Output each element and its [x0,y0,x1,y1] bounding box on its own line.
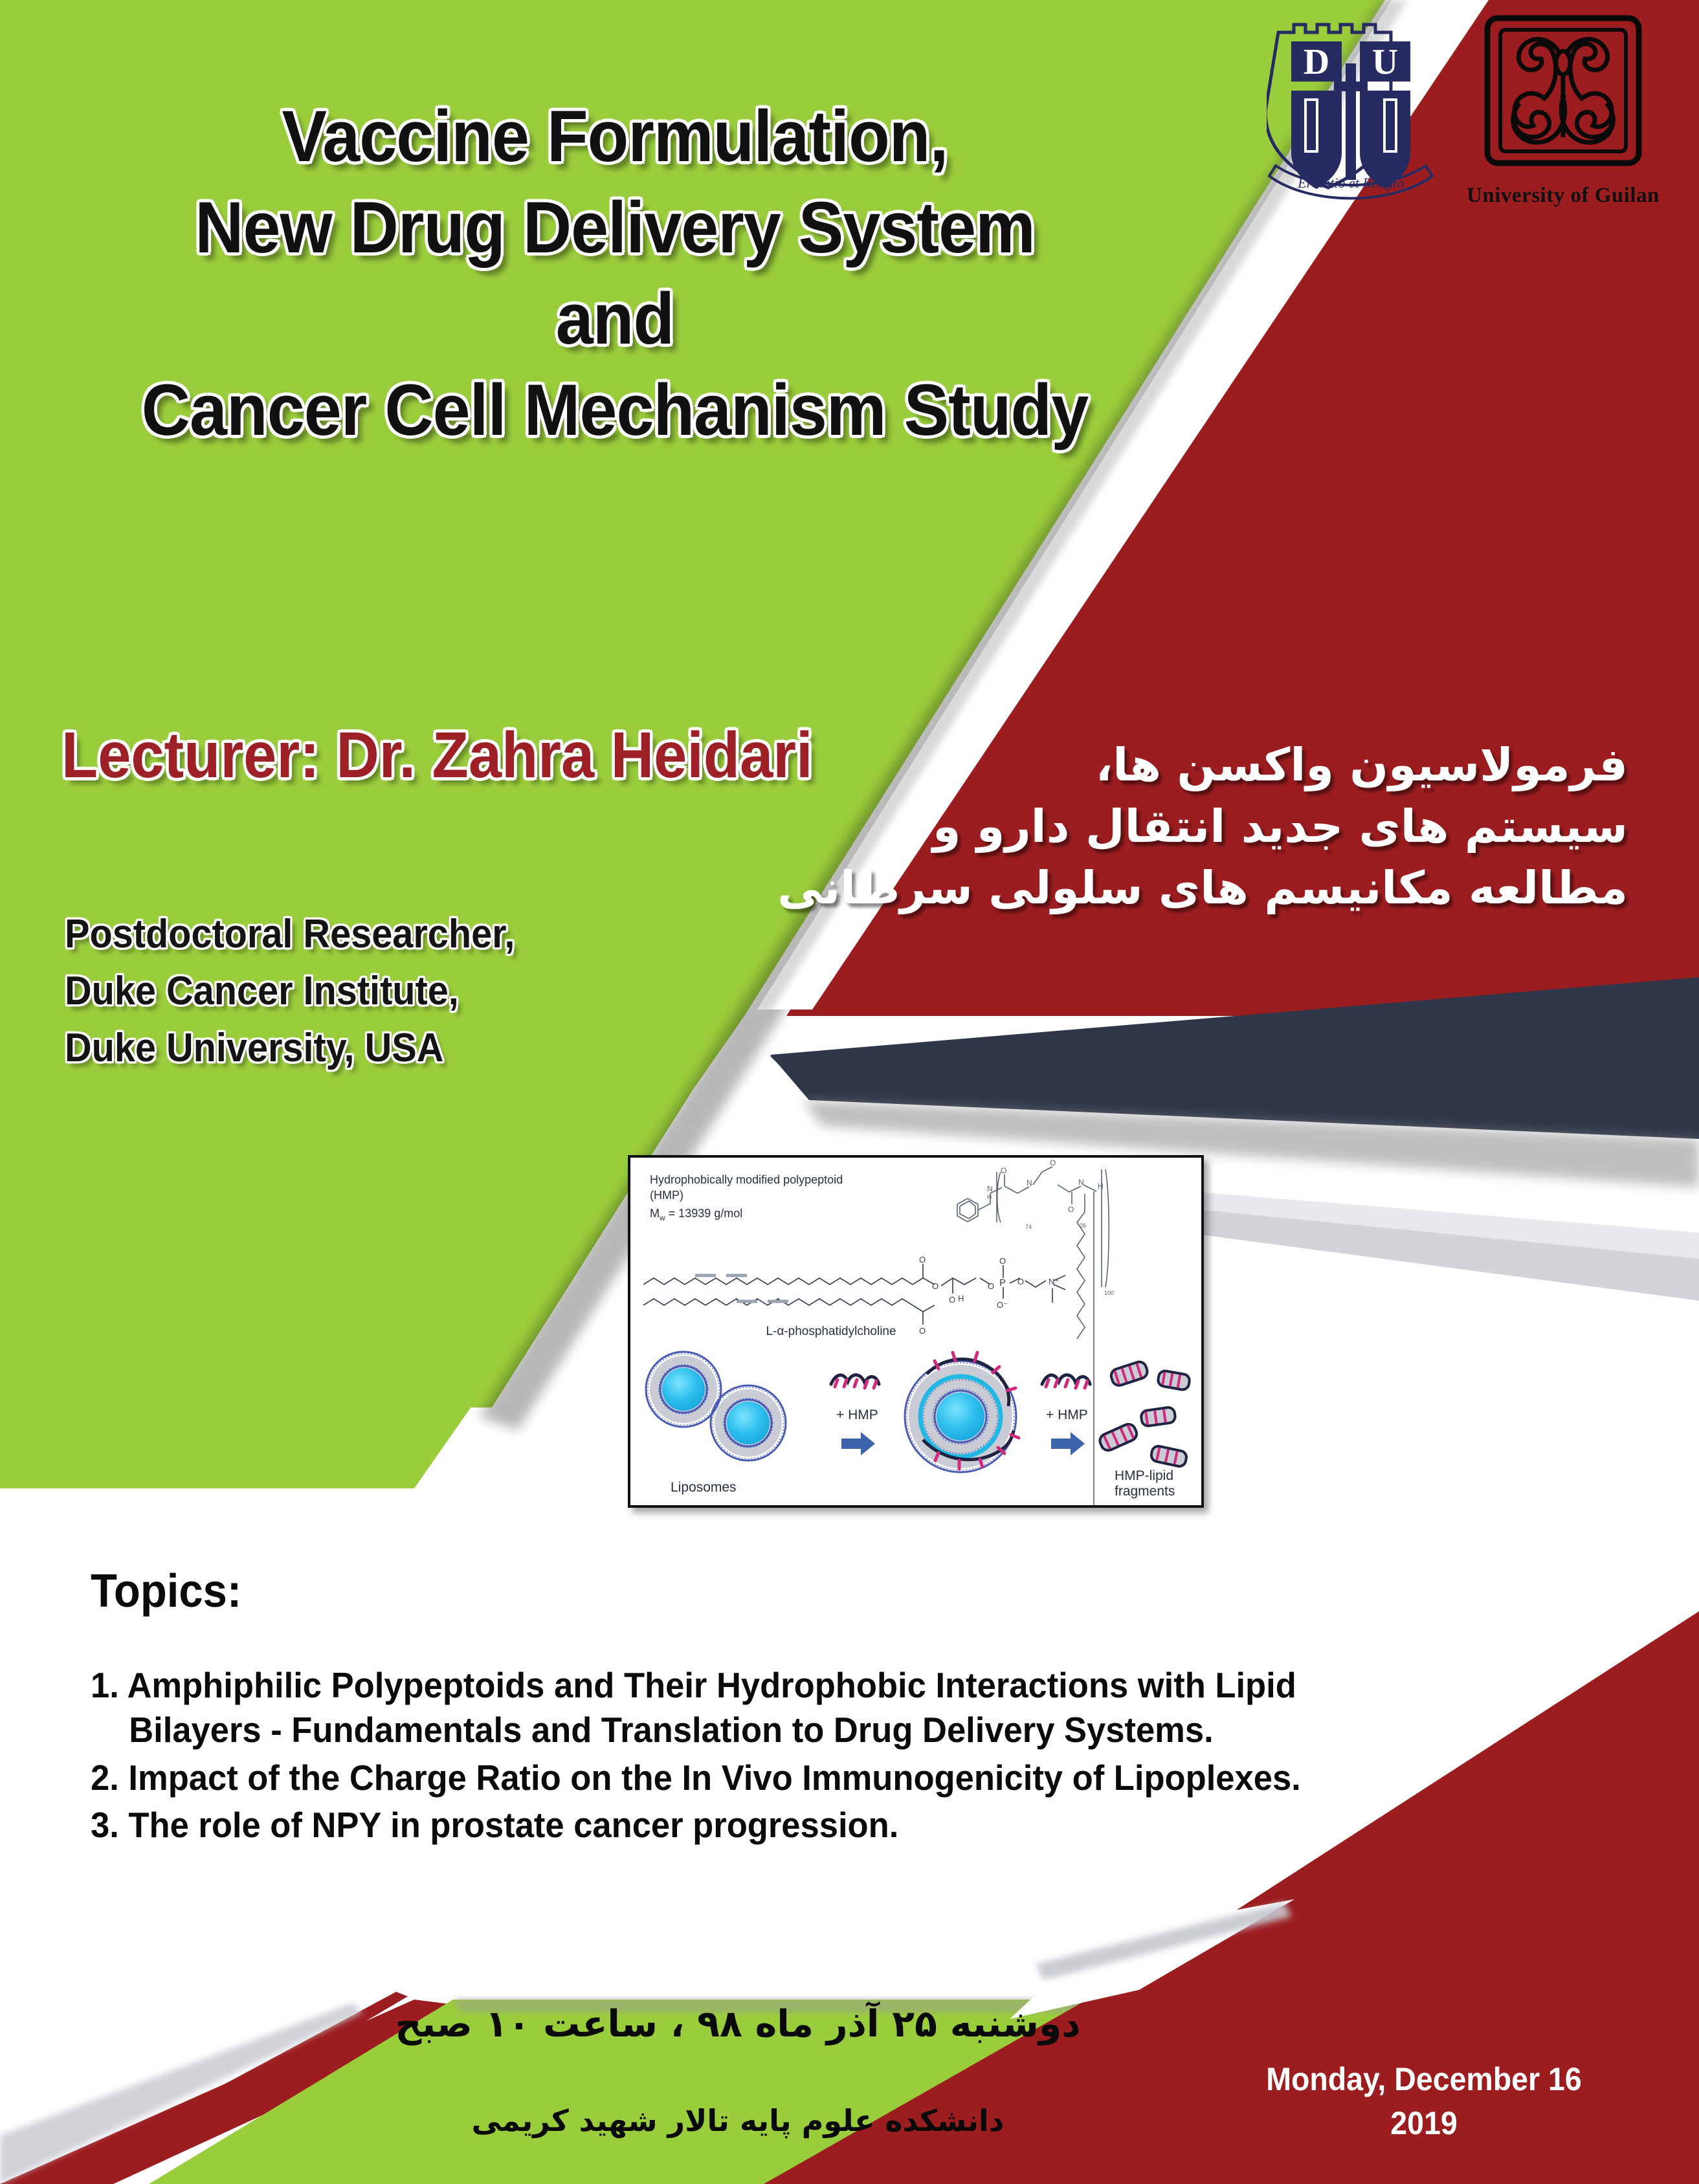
figure-caption-line1: Hydrophobically modified polypeptoid [650,1173,843,1186]
svg-text:O: O [988,1281,994,1291]
topics-list: 1. Amphiphilic Polypeptoids and Their Hy… [91,1663,1407,1850]
svg-text:O: O [932,1281,938,1291]
liposome-diagram: + HMP [646,1352,1190,1499]
svg-text:O: O [919,1255,926,1264]
svg-text:O: O [1068,1205,1074,1214]
logo-group: D U Eruditio et Religio [1267,14,1660,208]
reagent-label-2: + HMP [1046,1407,1088,1422]
liposome-hmp-complex-icon [905,1352,1019,1472]
figure-mw: Mw = 13939 g/mol [650,1207,742,1222]
hmp-polymer-icon-1 [831,1375,879,1388]
svg-text:N: N [987,1184,993,1193]
svg-text:D: D [1304,42,1329,82]
lecturer-affiliation: Postdoctoral Researcher, Duke Cancer Ins… [65,906,515,1077]
guilan-logo-caption: University of Guilan [1467,184,1660,208]
svg-text:26: 26 [1080,1222,1086,1229]
persian-title-line-2: سیستم های جدید انتقال دارو و [777,796,1628,857]
phosphatidylcholine-structure-icon: O O O H O O P O O⁻ O N⁺ [643,1255,1065,1336]
duke-university-shield-icon: D U Eruditio et Religio [1267,14,1435,208]
topics-heading: Topics: [91,1565,241,1618]
svg-text:O: O [1017,1277,1024,1286]
guilan-emblem-icon [1482,14,1644,181]
affiliation-line-3: Duke University, USA [65,1020,515,1077]
affiliation-line-2: Duke Cancer Institute, [65,963,515,1020]
topic-2-number: 2. [91,1758,119,1798]
scientific-figure: Hydrophobically modified polypeptoid (HM… [628,1155,1204,1508]
arrow-1-icon [841,1432,875,1455]
svg-text:O: O [1001,1166,1006,1175]
fragments-label-line1: HMP-lipid [1115,1468,1173,1483]
title-line-4: Cancer Cell Mechanism Study [43,364,1187,456]
svg-text:H: H [958,1294,964,1303]
event-poster: D U Eruditio et Religio [0,0,1699,2184]
topic-3-text: The role of NPY in prostate cancer progr… [128,1805,898,1845]
liposomes-label: Liposomes [671,1480,737,1495]
svg-text:O: O [999,1256,1006,1266]
svg-text:P: P [999,1277,1006,1288]
topic-1-text: Amphiphilic Polypeptoids and Their Hydro… [127,1665,1296,1705]
english-date-line2: 2019 [1243,2102,1605,2146]
title-line-1: Vaccine Formulation, [43,91,1187,182]
university-of-guilan-logo: University of Guilan [1466,14,1660,208]
arrow-2-icon [1051,1432,1085,1455]
persian-date: دوشنبه ۲۵ آذر ماه ۹۸ ، ساعت ۱۰ صبح [311,2003,1165,2046]
title-line-3: and [43,273,1187,364]
persian-title-line-1: فرمولاسیون واکسن ها، [777,734,1628,796]
english-date-line1: Monday, December 16 [1243,2058,1605,2102]
svg-text:U: U [1372,42,1398,82]
liposome-1-icon [646,1352,721,1427]
duke-motto: Eruditio et Religio [1297,175,1404,191]
liposome-2-icon [711,1385,786,1461]
svg-text:74: 74 [1025,1224,1032,1230]
topic-2-text: Impact of the Charge Ratio on the In Viv… [128,1758,1300,1798]
affiliation-line-1: Postdoctoral Researcher, [65,906,515,963]
topic-3-number: 3. [91,1805,119,1845]
topic-1-continuation: Bilayers - Fundamentals and Translation … [91,1708,1407,1752]
lipid-label: L-α-phosphatidylcholine [766,1325,896,1338]
svg-text:O: O [1050,1158,1056,1167]
svg-text:O: O [919,1326,926,1336]
hmp-lipid-fragments-icon [1098,1360,1190,1468]
figure-caption-line2: (HMP) [650,1189,683,1202]
topic-item-1: 1. Amphiphilic Polypeptoids and Their Hy… [91,1663,1407,1753]
english-date: Monday, December 16 2019 [1243,2058,1605,2145]
svg-text:N: N [1078,1178,1084,1187]
hmp-polymer-icon-2 [1042,1375,1090,1388]
svg-text:H: H [1098,1182,1104,1191]
fragments-label-line2: fragments [1115,1484,1175,1499]
svg-text:O: O [949,1295,955,1305]
svg-text:100: 100 [1104,1290,1114,1296]
persian-title-line-3: مطالعه مکانیسم های سلولی سرطانی [777,857,1628,919]
lecturer-name: Lecturer: Dr. Zahra Heidari [61,718,813,793]
topic-item-2: 2. Impact of the Charge Ratio on the In … [91,1756,1407,1800]
topic-item-3: 3. The role of NPY in prostate cancer pr… [91,1803,1407,1848]
svg-text:H: H [987,1194,992,1201]
persian-venue: دانشکده علوم پایه تالار شهید کریمی [311,2103,1165,2138]
poster-title: Vaccine Formulation, New Drug Delivery S… [0,91,1230,456]
figure-graphics: Hydrophobically modified polypeptoid (HM… [630,1158,1201,1505]
persian-title: فرمولاسیون واکسن ها، سیستم های جدید انتق… [777,734,1628,920]
title-line-2: New Drug Delivery System [43,182,1187,273]
topic-1-number: 1. [91,1665,119,1705]
svg-text:O⁻: O⁻ [997,1300,1008,1310]
reagent-label-1: + HMP [836,1407,878,1422]
svg-text:N: N [1027,1178,1032,1187]
